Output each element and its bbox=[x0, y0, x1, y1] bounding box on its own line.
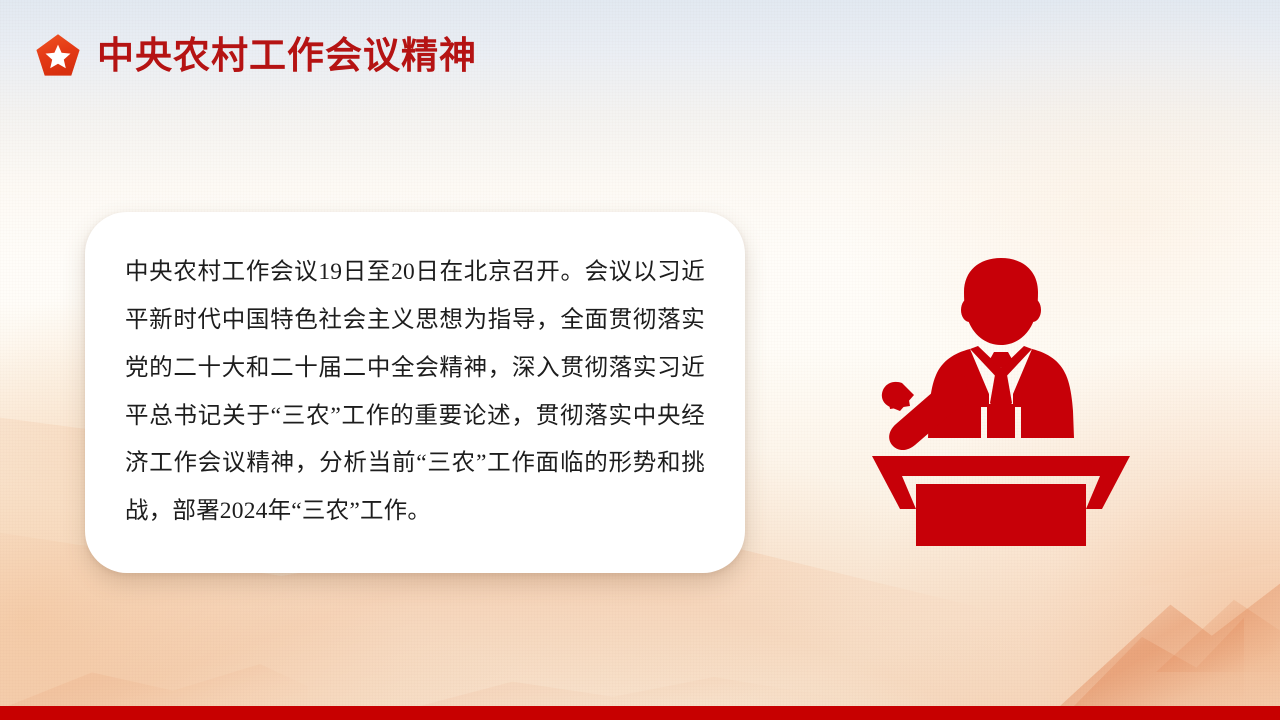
slide-header: 中央农村工作会议精神 bbox=[33, 31, 477, 81]
background-ridge-stroke-2 bbox=[1074, 610, 1244, 706]
background-ridge-stroke-5 bbox=[420, 648, 840, 706]
page-title: 中央农村工作会议精神 bbox=[97, 38, 477, 75]
background-ridge-stroke-4 bbox=[8, 636, 308, 706]
slide-canvas: 中央农村工作会议精神 中央农村工作会议19日至20日在北京召开。会议以习近平新时… bbox=[0, 0, 1280, 720]
background-ridge-stroke-1 bbox=[1060, 576, 1280, 706]
speaker-at-podium-icon bbox=[866, 252, 1136, 567]
pentagon-star-icon bbox=[33, 31, 83, 81]
bottom-accent-bar bbox=[0, 706, 1280, 720]
content-card-paragraph: 中央农村工作会议19日至20日在北京召开。会议以习近平新时代中国特色社会主义思想… bbox=[125, 249, 705, 535]
content-card: 中央农村工作会议19日至20日在北京召开。会议以习近平新时代中国特色社会主义思想… bbox=[85, 212, 745, 573]
background-ridge-stroke-3 bbox=[1156, 586, 1280, 672]
